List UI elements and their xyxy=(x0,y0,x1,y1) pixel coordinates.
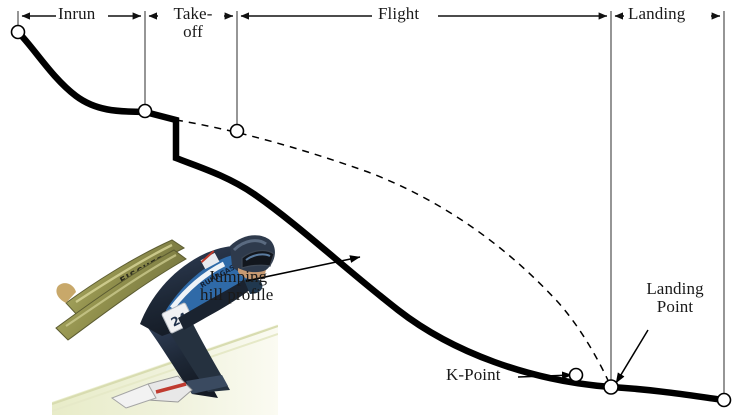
jumping-hill-profile-path xyxy=(18,32,724,400)
leader-landing-point xyxy=(616,330,648,383)
profile-vector-layer xyxy=(0,0,743,415)
segment-label-takeoff: Take- off xyxy=(160,5,226,41)
profile-markers xyxy=(12,26,731,407)
segment-label-inrun: Inrun xyxy=(58,5,95,23)
takeoff-marker xyxy=(139,105,152,118)
callout-jumping-hill-profile: Jumping hill profile xyxy=(200,268,273,304)
flight-trajectory-path xyxy=(176,120,611,387)
segment-label-flight: Flight xyxy=(378,5,419,23)
inrun-start-marker xyxy=(12,26,25,39)
callout-landing-point-line2: Point xyxy=(638,298,712,316)
segment-label-landing: Landing xyxy=(628,5,685,23)
outrun-end-marker xyxy=(718,394,731,407)
phase-divider-lines xyxy=(18,11,724,401)
flight-start-marker xyxy=(231,125,244,138)
callout-k-point: K-Point xyxy=(446,366,501,384)
ski-jump-profile-diagram: FISCHER xyxy=(0,0,743,415)
callout-landing-point-line1: Landing xyxy=(638,280,712,298)
segment-label-takeoff-line1: Take- xyxy=(160,5,226,23)
callout-landing-point: Landing Point xyxy=(638,280,712,316)
callout-jumping-hill-profile-line1: Jumping xyxy=(208,268,273,286)
segment-label-takeoff-line2: off xyxy=(160,23,226,41)
callout-jumping-hill-profile-line2: hill profile xyxy=(200,286,273,304)
landing-point-marker xyxy=(604,380,618,394)
k-point-marker xyxy=(570,369,583,382)
